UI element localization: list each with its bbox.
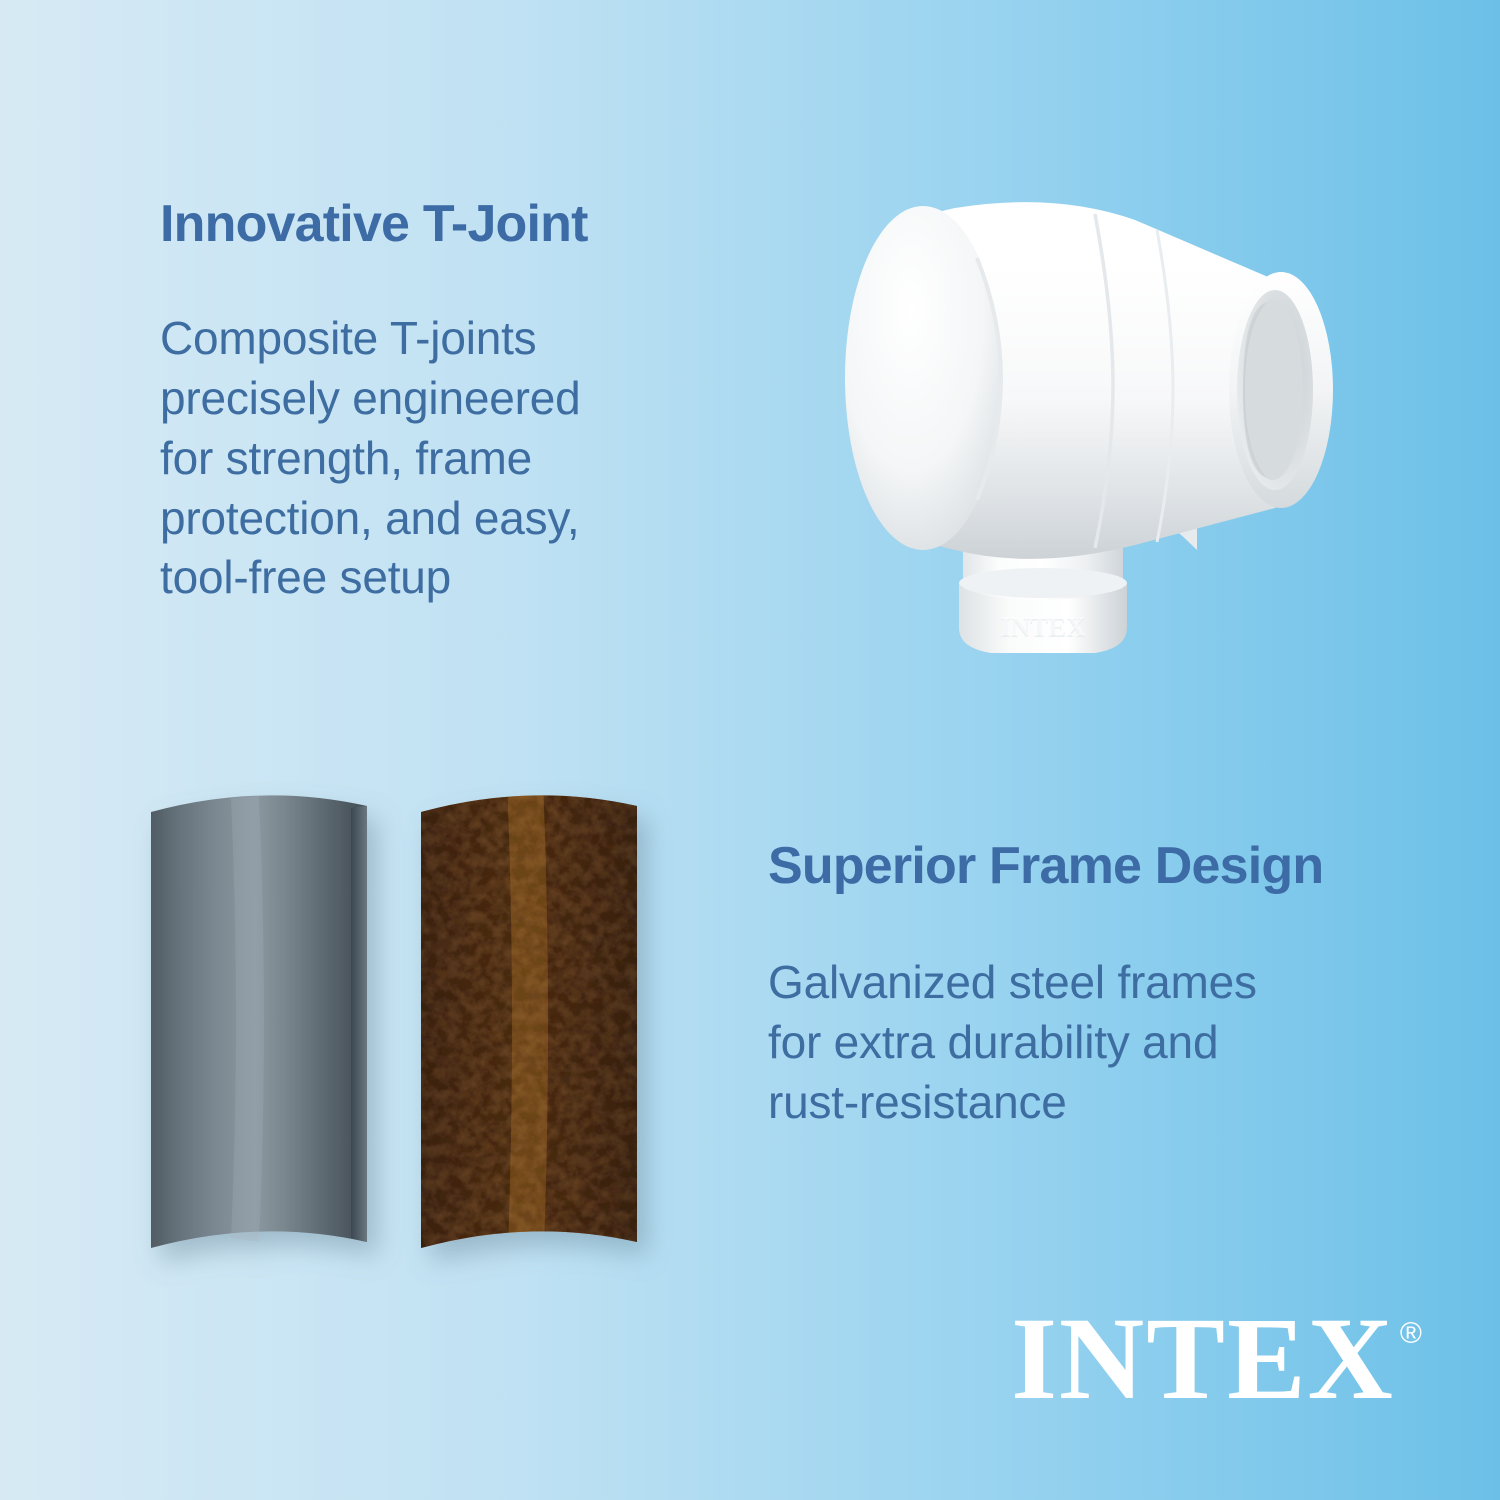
t-joint-right-socket	[1229, 272, 1333, 508]
feature-title-frame: Superior Frame Design	[768, 838, 1428, 895]
registered-trademark-icon: ®	[1400, 1317, 1422, 1351]
intex-wordmark: INTEX	[1011, 1305, 1395, 1414]
feature-body-t-joint: Composite T-joints precisely engineered …	[160, 309, 760, 608]
pipe-sample-galvanized	[145, 790, 377, 1265]
feature-block-frame: Superior Frame Design Galvanized steel f…	[768, 838, 1428, 1133]
t-joint-product-image: INTEX INTEX	[805, 150, 1375, 680]
feature-body-frame: Galvanized steel frames for extra durabi…	[768, 953, 1428, 1132]
feature-body-line: protection, and easy,	[160, 489, 760, 549]
feature-body-line: for strength, frame	[160, 429, 760, 489]
svg-text:INTEX: INTEX	[1000, 611, 1086, 641]
feature-title-t-joint: Innovative T-Joint	[160, 196, 760, 253]
feature-body-line: tool-free setup	[160, 548, 760, 608]
feature-body-line: for extra durability and	[768, 1013, 1428, 1073]
feature-body-line: rust-resistance	[768, 1073, 1428, 1133]
feature-body-line: Composite T-joints	[160, 309, 760, 369]
feature-body-line: precisely engineered	[160, 369, 760, 429]
feature-block-t-joint: Innovative T-Joint Composite T-joints pr…	[160, 196, 760, 608]
feature-body-line: Galvanized steel frames	[768, 953, 1428, 1013]
pipe-sample-rusted	[415, 790, 647, 1265]
intex-logo: INTEX ®	[1011, 1305, 1422, 1414]
